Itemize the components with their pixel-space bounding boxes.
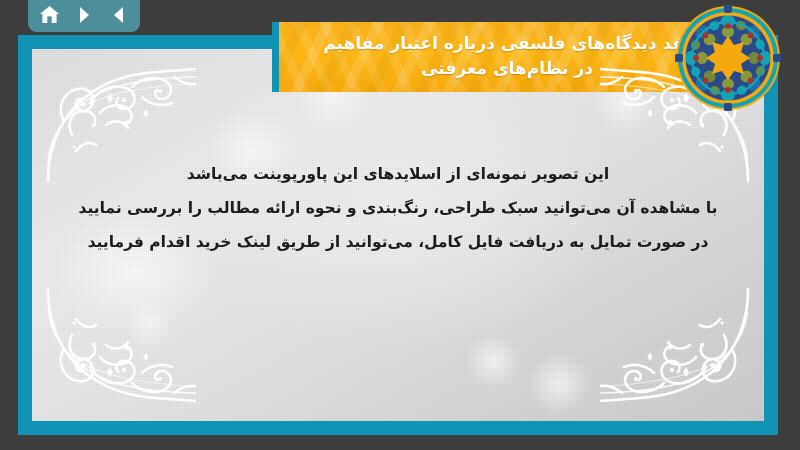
navigation-bar — [28, 0, 140, 32]
slide-frame: این تصویر نمونه‌ای از اسلایدهای این پاور… — [18, 35, 778, 435]
arabesque-corner-ornament-bottom-left — [46, 287, 196, 407]
slide-body-text: این تصویر نمونه‌ای از اسلایدهای این پاور… — [46, 157, 750, 259]
body-line-1: این تصویر نمونه‌ای از اسلایدهای این پاور… — [46, 157, 750, 191]
forward-arrow-icon — [74, 5, 94, 25]
body-line-2: با مشاهده آن می‌توانید سبک طراحی، رنگ‌بن… — [46, 191, 750, 225]
arabesque-corner-ornament-bottom-right — [600, 287, 750, 407]
back-arrow-icon — [109, 5, 129, 25]
home-icon — [39, 5, 60, 25]
title-line-1: نقد دیدگاه‌های فلسفی درباره اعتبار مفاهی… — [323, 32, 691, 57]
slide-preview-stage: این تصویر نمونه‌ای از اسلایدهای این پاور… — [0, 0, 800, 450]
islamic-medallion-ornament — [672, 2, 784, 114]
title-line-2: در نظام‌های معرفتی — [421, 57, 593, 82]
body-line-3: در صورت تمایل به دریافت فایل کامل، می‌تو… — [46, 225, 750, 259]
back-button[interactable] — [108, 4, 130, 26]
slide-content-area: این تصویر نمونه‌ای از اسلایدهای این پاور… — [32, 49, 764, 421]
home-button[interactable] — [38, 4, 60, 26]
forward-button[interactable] — [73, 4, 95, 26]
